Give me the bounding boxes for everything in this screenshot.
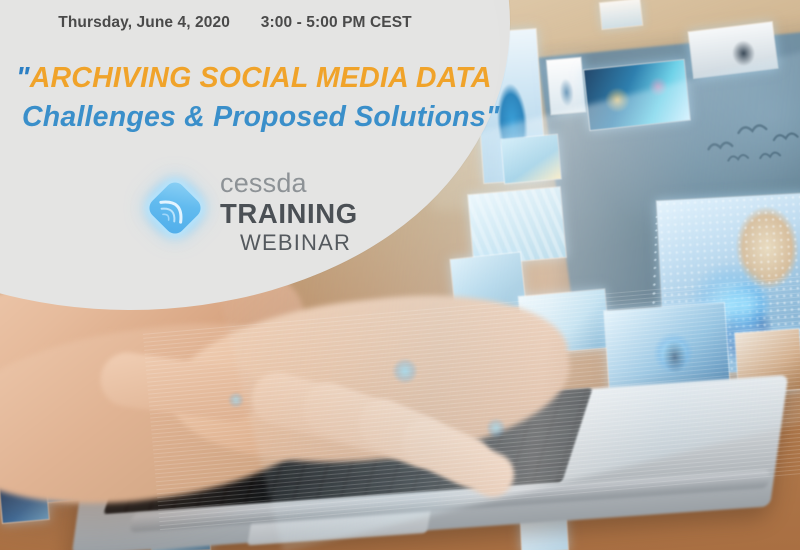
webinar-poster: Thursday, June 4, 2020 3:00 - 5:00 PM CE… (0, 0, 800, 550)
thumbnail-sky (599, 0, 644, 30)
poster-content: Thursday, June 4, 2020 3:00 - 5:00 PM CE… (0, 0, 500, 300)
title-line-2-text: Challenges & Proposed Solutions (22, 101, 486, 133)
title-line-1: "ARCHIVING SOCIAL MEDIA DATA (0, 62, 476, 95)
page-title: "ARCHIVING SOCIAL MEDIA DATA Challenges … (0, 62, 476, 134)
thumbnail-concert (583, 59, 691, 131)
logo-wordmark: cessda TRAINING WEBINAR (220, 170, 395, 255)
title-line-1-text: ARCHIVING SOCIAL MEDIA DATA (30, 62, 492, 94)
event-datetime: Thursday, June 4, 2020 3:00 - 5:00 PM CE… (0, 14, 470, 32)
logo-program-text: TRAINING (220, 199, 395, 229)
closing-quote-mark: " (486, 101, 500, 133)
thumbnail-person-small (546, 57, 587, 116)
logo-brand-text: cessda (220, 170, 395, 197)
opening-quote-mark: " (16, 62, 30, 94)
cessda-training-webinar-logo: cessda TRAINING WEBINAR (143, 172, 393, 267)
thumbnail-city (500, 134, 562, 185)
title-line-2: Challenges & Proposed Solutions" (0, 101, 476, 134)
logo-format-text: WEBINAR (220, 231, 395, 255)
event-date: Thursday, June 4, 2020 (58, 14, 230, 31)
cessda-diamond-logo-icon (143, 176, 207, 240)
event-time: 3:00 - 5:00 PM CEST (261, 14, 412, 31)
